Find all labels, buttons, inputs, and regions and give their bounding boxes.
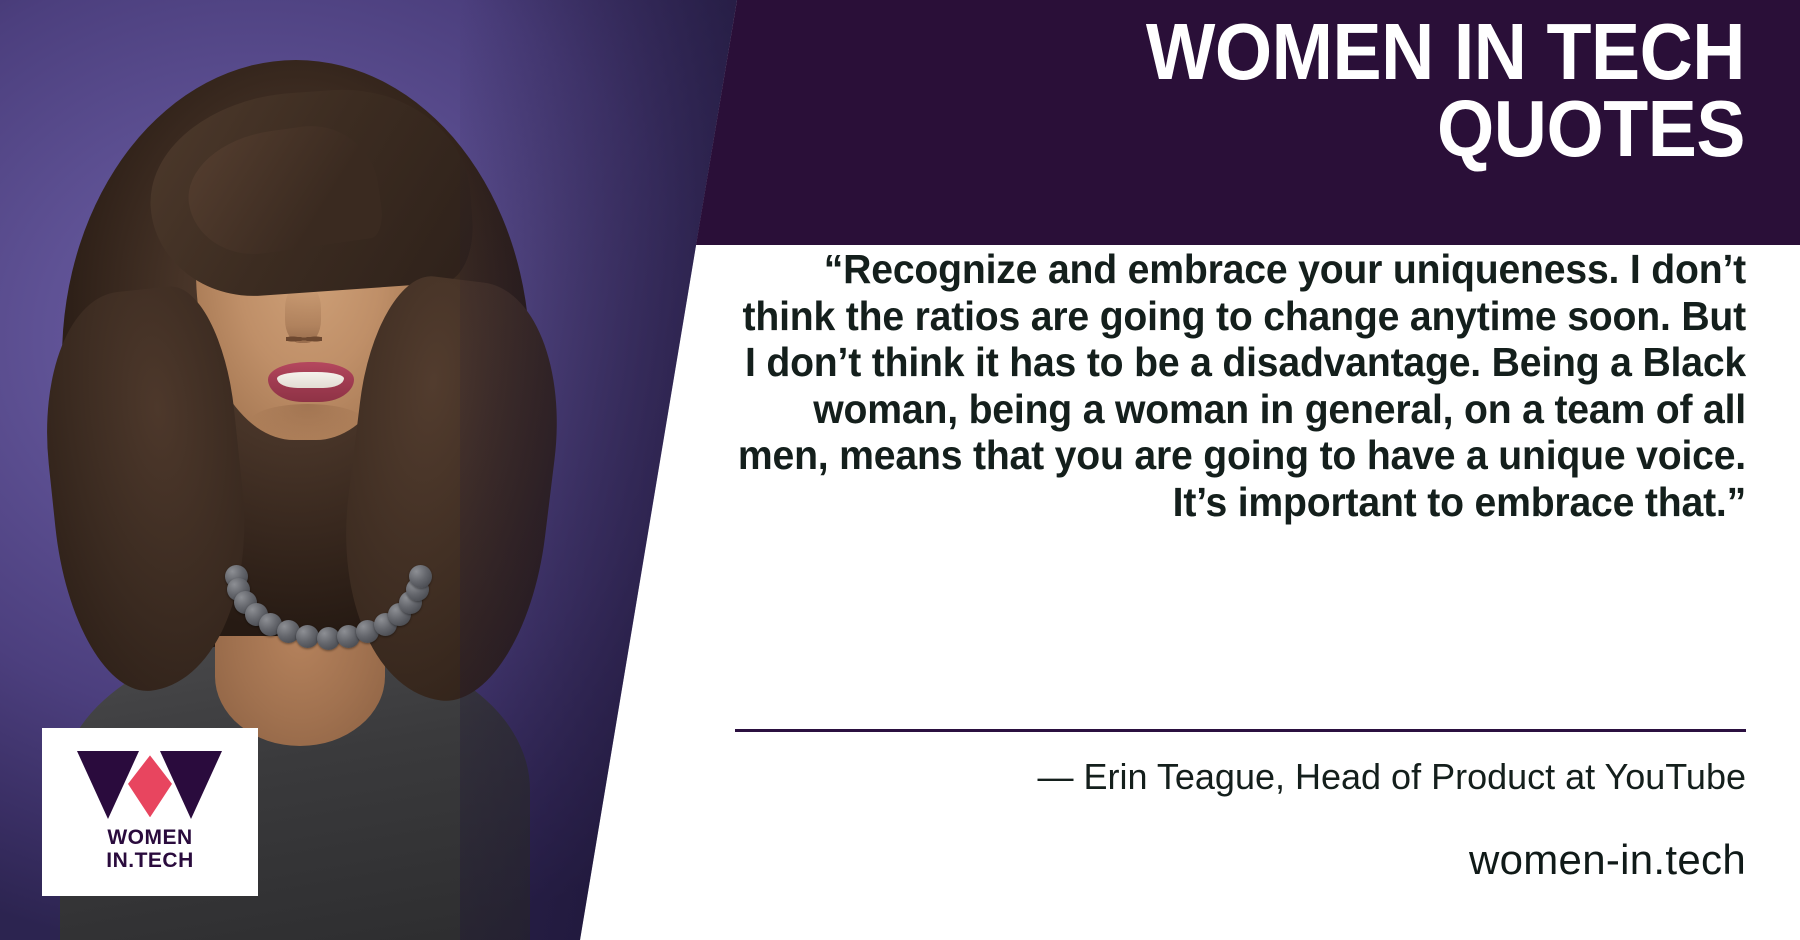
nostrils bbox=[286, 334, 322, 344]
logo-wordmark: WOMEN IN.TECH bbox=[106, 827, 194, 872]
teeth bbox=[277, 372, 344, 388]
page-title-line2: QUOTES bbox=[825, 91, 1745, 168]
pearl-necklace bbox=[233, 566, 423, 656]
quote-card: WOMEN IN.TECH WOMEN IN TECH QUOTES “Reco… bbox=[0, 0, 1800, 940]
brand-logo[interactable]: WOMEN IN.TECH bbox=[42, 728, 258, 896]
website-url[interactable]: women-in.tech bbox=[700, 836, 1746, 884]
necklace-pearl bbox=[296, 625, 319, 648]
divider-rule bbox=[735, 729, 1746, 732]
necklace-pearl bbox=[409, 565, 432, 588]
w-monogram-icon bbox=[75, 751, 225, 819]
logo-wordmark-line2: IN.TECH bbox=[106, 849, 194, 872]
quote-text: “Recognize and embrace your uniqueness. … bbox=[738, 246, 1746, 525]
necklace-pearl bbox=[317, 627, 340, 650]
logo-wordmark-line1: WOMEN bbox=[107, 826, 192, 849]
page-title-line1: WOMEN IN TECH bbox=[1146, 7, 1745, 96]
page-title: WOMEN IN TECH QUOTES bbox=[825, 14, 1745, 168]
quote-attribution: — Erin Teague, Head of Product at YouTub… bbox=[700, 756, 1746, 798]
chin-shading bbox=[250, 404, 365, 440]
